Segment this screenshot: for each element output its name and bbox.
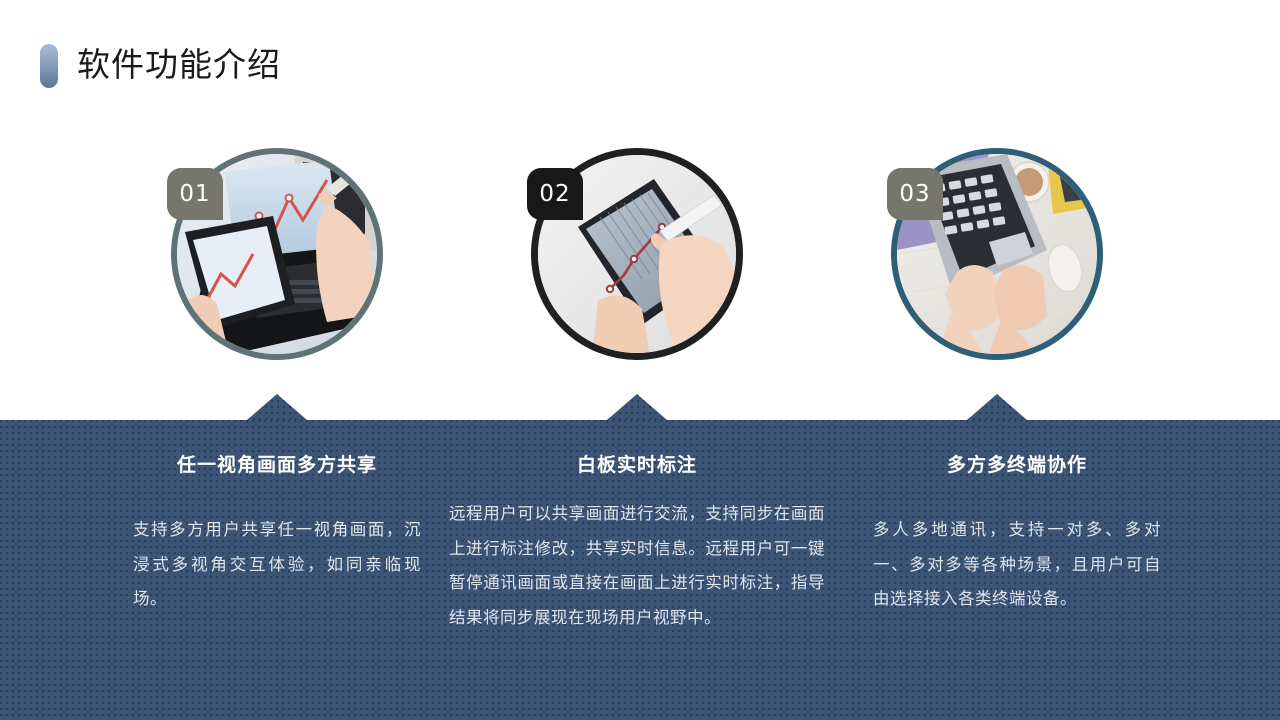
feature-body-2: 远程用户可以共享画面进行交流，支持同步在画面上进行标注修改，共享实时信息。远程用… — [447, 497, 827, 636]
feature-title-1: 任一视角画面多方共享 — [127, 456, 427, 475]
panel-pointer-2-icon — [607, 394, 667, 420]
feature-image-3: 03 — [891, 148, 1103, 360]
feature-text-3: 多方多终端协作 多人多地通讯，支持一对多、多对一、多对多等各种场景，且用户可自由… — [867, 420, 1167, 720]
panel-pointer-3-icon — [967, 394, 1027, 420]
badge-number-2: 02 — [527, 168, 583, 220]
badge-number-3: 03 — [887, 168, 943, 220]
badge-number-1: 01 — [167, 168, 223, 220]
title-accent-bar-icon — [40, 44, 58, 88]
feature-text-1: 任一视角画面多方共享 支持多方用户共享任一视角画面，沉浸式多视角交互体验，如同亲… — [127, 420, 427, 720]
feature-body-3: 多人多地通讯，支持一对多、多对一、多对多等各种场景，且用户可自由选择接入各类终端… — [867, 513, 1167, 617]
feature-image-2: 02 — [531, 148, 743, 360]
panel-pointer-1-icon — [247, 394, 307, 420]
slide-root: 软件功能介绍 — [0, 0, 1280, 720]
feature-title-2: 白板实时标注 — [447, 456, 827, 475]
feature-body-1: 支持多方用户共享任一视角画面，沉浸式多视角交互体验，如同亲临现场。 — [127, 513, 427, 617]
page-title: 软件功能介绍 — [40, 38, 281, 94]
feature-text-2: 白板实时标注 远程用户可以共享画面进行交流，支持同步在画面上进行标注修改，共享实… — [447, 420, 827, 720]
feature-image-row: 01 — [0, 148, 1280, 368]
page-title-text: 软件功能介绍 — [77, 50, 281, 83]
feature-text-panel: 任一视角画面多方共享 支持多方用户共享任一视角画面，沉浸式多视角交互体验，如同亲… — [0, 420, 1280, 720]
feature-title-3: 多方多终端协作 — [867, 456, 1167, 475]
feature-image-1: 01 — [171, 148, 383, 360]
